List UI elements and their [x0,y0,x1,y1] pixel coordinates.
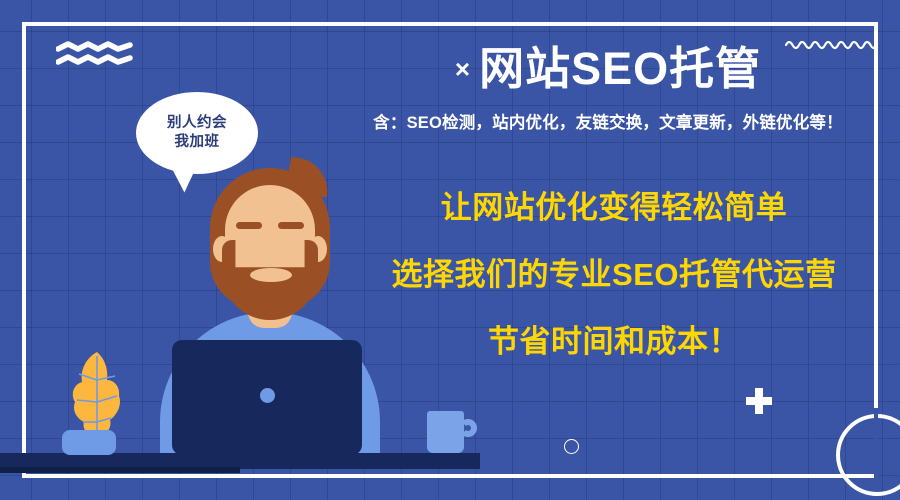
potted-plant-icon [70,350,124,438]
title-text: 网站SEO托管 [479,43,761,94]
page-title: ×网站SEO托管 [338,42,878,95]
seo-hosting-poster: ×网站SEO托管 含：SEO检测，站内优化，友链交换，文章更新，外链优化等！ 让… [0,0,900,500]
desk-shadow [0,467,240,473]
title-bullet-icon: × [455,54,471,84]
slogan-block: 让网站优化变得轻松简单 选择我们的专业SEO托管代运营 节省时间和成本！ [336,192,892,357]
circle-outline-icon [564,439,579,454]
slogan-line-2: 选择我们的专业SEO托管代运营 [336,259,892,290]
wave-lines-icon [56,40,134,70]
speech-bubble-line-2: 我加班 [175,133,220,152]
speech-bubble-line-1: 别人约会 [167,114,227,133]
plus-icon [746,388,772,414]
person-eyebrow-left [236,222,262,229]
headline-block: ×网站SEO托管 含：SEO检测，站内优化，友链交换，文章更新，外链优化等！ [338,42,878,133]
corner-circle-icon [836,414,900,496]
plant-pot [62,430,116,455]
person-mouth [250,268,292,282]
subtitle: 含：SEO检测，站内优化，友链交换，文章更新，外链优化等！ [338,109,878,133]
slogan-line-3: 节省时间和成本！ [336,326,892,357]
person-eyebrow-right [278,222,304,229]
frame-corner-mask [874,408,878,478]
slogan-line-1: 让网站优化变得轻松简单 [336,192,892,223]
speech-bubble: 别人约会 我加班 [136,92,258,174]
laptop-logo-icon [260,388,275,403]
coffee-mug-icon [427,411,464,453]
